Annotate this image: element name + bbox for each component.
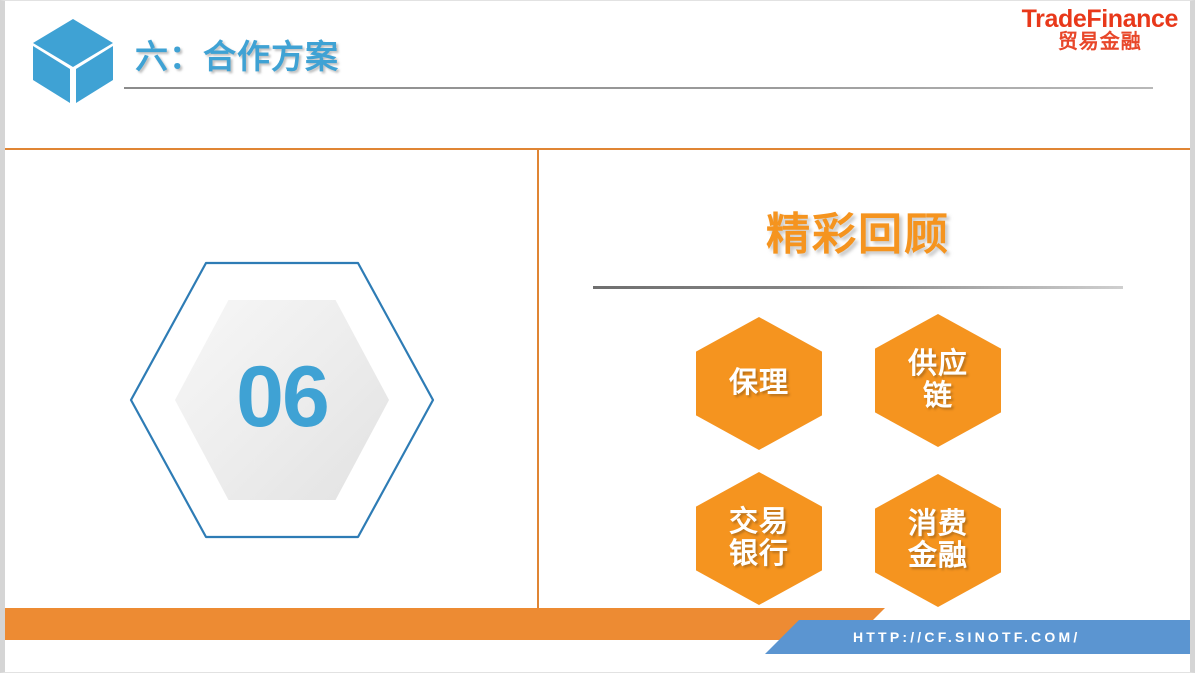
highlight-hexagon-consumer-finance[interactable]: 消费 金融	[875, 474, 1001, 607]
highlight-hexagon-label: 交易 银行	[729, 507, 789, 570]
vertical-divider	[537, 150, 539, 620]
footer-url-band: HTTP://CF.SINOTF.COM/	[765, 620, 1190, 654]
panel-title: 精彩回顾	[593, 198, 1123, 262]
footer-accent-bar	[5, 608, 885, 640]
highlight-hexagon-label: 保理	[729, 368, 789, 399]
brand-logo: TradeFinance 贸易金融	[1022, 6, 1178, 53]
cube-icon	[29, 15, 117, 107]
highlight-hexagon-factoring[interactable]: 保理	[696, 317, 822, 450]
highlight-hexagon-supply-chain[interactable]: 供应 链	[875, 314, 1001, 447]
panel-title-divider	[593, 286, 1123, 289]
brand-name-cn: 贸易金融	[1022, 32, 1178, 53]
slide-canvas: 六：合作方案 TradeFinance 贸易金融 06 精彩回顾 保理 供应 链	[5, 1, 1190, 672]
section-number-hexagon: 06	[129, 261, 435, 539]
section-number-label: 06	[129, 354, 435, 440]
highlight-hexagon-label: 供应 链	[908, 349, 968, 412]
header-content-divider	[5, 148, 1190, 150]
footer-url-text[interactable]: HTTP://CF.SINOTF.COM/	[853, 629, 1080, 645]
header-underline	[124, 87, 1153, 89]
brand-name-en: TradeFinance	[1022, 6, 1178, 32]
page-title: 六：合作方案	[135, 30, 339, 78]
highlight-hexagon-transaction-banking[interactable]: 交易 银行	[696, 472, 822, 605]
highlight-hexagon-label: 消费 金融	[908, 509, 968, 572]
highlight-hexagon-grid: 保理 供应 链 交易 银行 消费 金融	[685, 306, 1025, 621]
slide-root: 六：合作方案 TradeFinance 贸易金融 06 精彩回顾 保理 供应 链	[0, 0, 1195, 673]
